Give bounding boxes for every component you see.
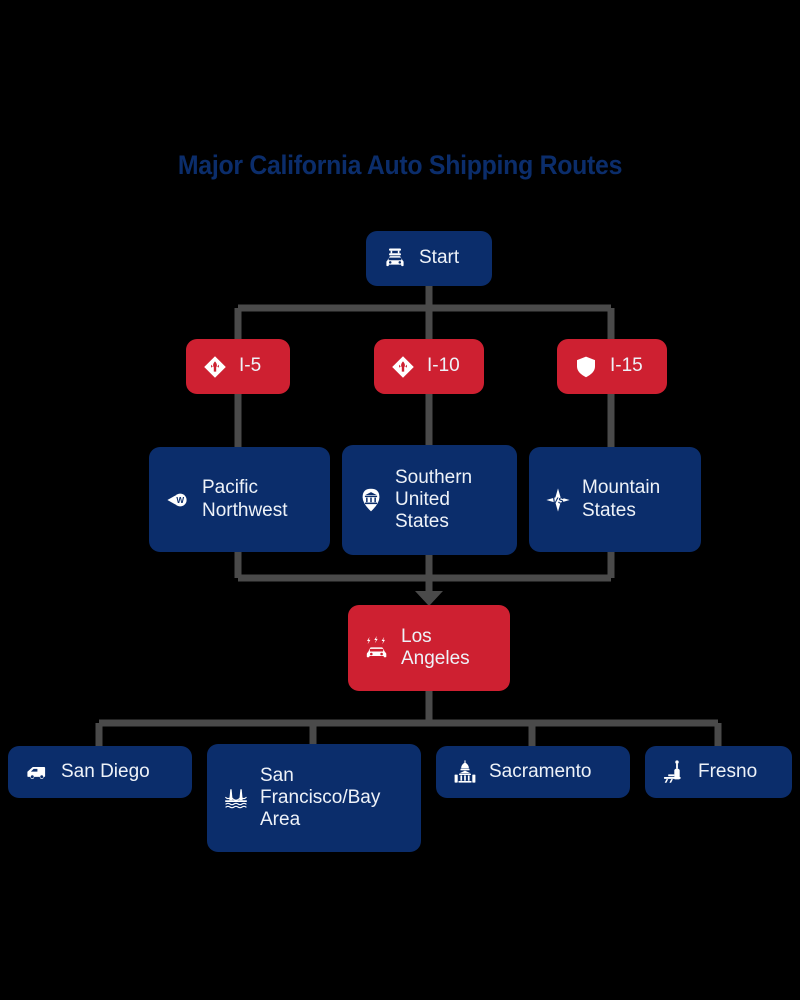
node-sacramento[interactable]: Sacramento [436, 746, 630, 798]
node-i10-label: I-10 [427, 355, 460, 377]
node-i15[interactable]: I-15 [557, 339, 667, 394]
bridge-icon [223, 785, 249, 811]
node-southern-united-states-label: Southern United States [395, 467, 501, 533]
wine-bottle-icon [661, 759, 687, 785]
route-diamond-icon [390, 354, 416, 380]
electric-car-icon [364, 635, 390, 661]
node-san-diego-label: San Diego [61, 761, 150, 783]
node-start-label: Start [419, 247, 459, 269]
flowchart-canvas: Major California Auto Shipping Routes [0, 0, 800, 1000]
node-los-angeles[interactable]: Los Angeles [348, 605, 510, 691]
node-fresno-label: Fresno [698, 761, 757, 783]
node-fresno[interactable]: Fresno [645, 746, 792, 798]
arrowhead-into-los-angeles [415, 591, 443, 606]
car-roof-rack-icon [382, 246, 408, 272]
truck-icon [24, 759, 50, 785]
node-southern-united-states[interactable]: Southern United States [342, 445, 517, 555]
capitol-dome-icon [452, 759, 478, 785]
node-i15-label: I-15 [610, 355, 643, 377]
node-mountain-states-label: Mountain States [582, 477, 685, 521]
node-i5-label: I-5 [239, 355, 261, 377]
node-los-angeles-label: Los Angeles [401, 626, 494, 670]
route-diamond-icon [202, 354, 228, 380]
shield-icon [573, 354, 599, 380]
node-san-diego[interactable]: San Diego [8, 746, 192, 798]
node-i5[interactable]: I-5 [186, 339, 290, 394]
svg-text:W: W [176, 496, 184, 505]
node-mountain-states[interactable]: VS Mountain States [529, 447, 701, 552]
node-pacific-northwest[interactable]: W Pacific Northwest [149, 447, 330, 552]
svg-text:VS: VS [552, 495, 564, 505]
compass-west-icon: W [165, 487, 191, 513]
map-pin-bank-icon [358, 487, 384, 513]
compass-star-icon: VS [545, 487, 571, 513]
node-san-francisco-bay-area-label: San Francisco/Bay Area [260, 765, 405, 831]
node-start[interactable]: Start [366, 231, 492, 286]
node-sacramento-label: Sacramento [489, 761, 591, 783]
node-i10[interactable]: I-10 [374, 339, 484, 394]
node-pacific-northwest-label: Pacific Northwest [202, 477, 314, 521]
node-san-francisco-bay-area[interactable]: San Francisco/Bay Area [207, 744, 421, 852]
